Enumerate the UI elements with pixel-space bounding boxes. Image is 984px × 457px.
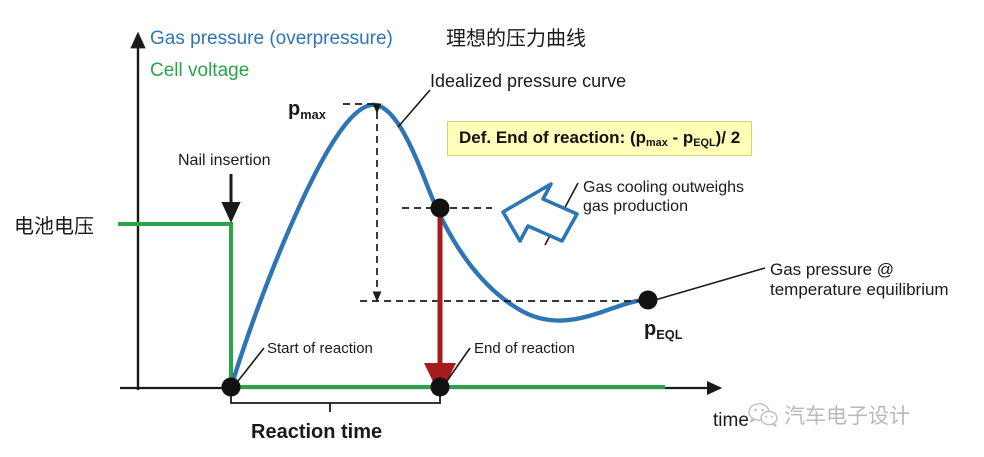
chart-canvas: Gas pressure (overpressure) Cell voltage… [0, 0, 984, 457]
chart-title-chinese: 理想的压力曲线 [446, 28, 586, 52]
wechat-icon [748, 402, 778, 428]
p-max-subscript: max [300, 107, 326, 122]
definition-middle: - p [668, 128, 694, 147]
definition-subscript-max: max [646, 137, 668, 149]
watermark-text: 汽车电子设计 [784, 400, 910, 430]
idealized-curve-leader [398, 90, 430, 127]
time-axis-label: time [713, 410, 749, 432]
gas-cooling-annotation: Gas cooling outweighsgas production [583, 179, 744, 217]
legend-gas-pressure: Gas pressure (overpressure) [150, 28, 393, 50]
p-max-label: pmax [288, 98, 326, 122]
p-eql-subscript: EQL [656, 327, 682, 342]
cell-voltage-label-chinese: 电池电压 [14, 216, 94, 240]
cell-voltage-curve [118, 224, 665, 387]
gas-cooling-line-1: Gas cooling outweighs [583, 179, 744, 196]
marker-end-of-reaction-axis [431, 378, 450, 397]
end-of-reaction-leader [447, 348, 470, 381]
p-eql-base: p [644, 318, 656, 340]
p-eql-label: pEQL [644, 318, 683, 342]
equilibrium-leader [655, 268, 765, 300]
marker-p-eql [639, 291, 658, 310]
nail-insertion-label: Nail insertion [178, 152, 270, 171]
reaction-time-label: Reaction time [251, 421, 382, 445]
marker-start-of-reaction [222, 378, 241, 397]
equilibrium-pressure-annotation: Gas pressure @temperature equilibrium [770, 260, 949, 300]
pressure-curve-plot [0, 0, 984, 457]
end-of-reaction-label: End of reaction [474, 340, 575, 358]
definition-subscript-eql: EQL [693, 137, 715, 149]
legend-cell-voltage: Cell voltage [150, 60, 249, 82]
gas-cooling-block-arrow [503, 184, 577, 241]
marker-end-of-reaction-curve [431, 199, 450, 218]
watermark: 汽车电子设计 [748, 400, 910, 430]
equilibrium-line-2: temperature equilibrium [770, 280, 949, 299]
definition-suffix: )/ 2 [716, 128, 741, 147]
p-max-base: p [288, 98, 300, 120]
start-of-reaction-label: Start of reaction [267, 340, 373, 358]
chart-title-english: Idealized pressure curve [430, 71, 626, 92]
definition-box: Def. End of reaction: (pmax - pEQL)/ 2 [447, 121, 752, 156]
gas-cooling-line-2: gas production [583, 198, 688, 215]
definition-prefix: Def. End of reaction: (p [459, 128, 646, 147]
reaction-time-brace [231, 394, 440, 412]
equilibrium-line-1: Gas pressure @ [770, 260, 894, 279]
